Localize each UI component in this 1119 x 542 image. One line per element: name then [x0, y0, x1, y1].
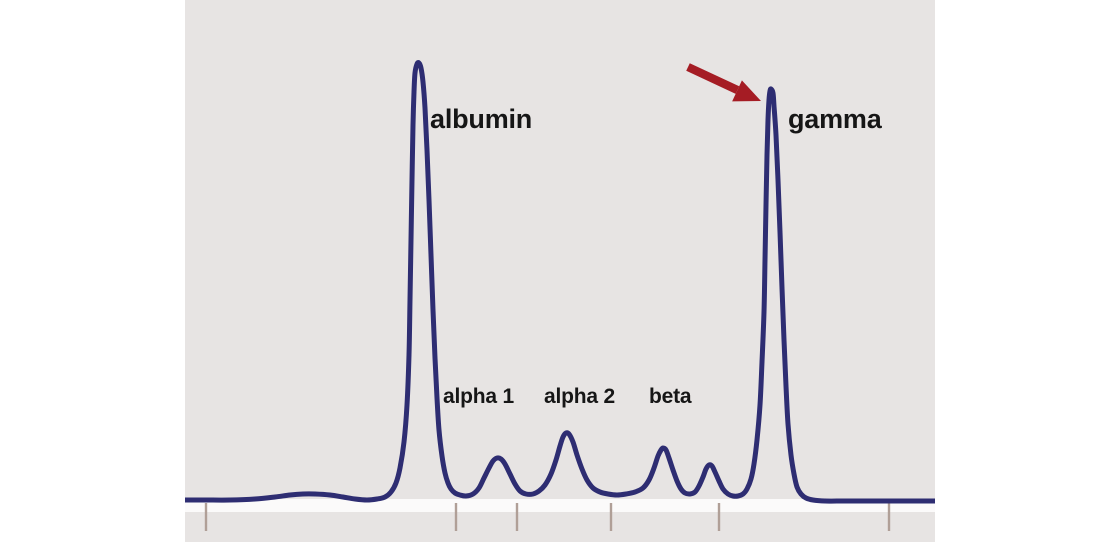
- peak-label-alpha2: alpha 2: [544, 386, 615, 407]
- peak-label-albumin: albumin: [430, 106, 532, 133]
- peak-label-gamma: gamma: [788, 106, 882, 133]
- electrophoresis-plot: [185, 0, 935, 542]
- x-axis-ticks: [206, 503, 889, 531]
- peak-label-alpha1: alpha 1: [443, 386, 514, 407]
- chart-panel: albumin gamma alpha 1 alpha 2 beta: [185, 0, 935, 542]
- gamma-pointer-arrow: [686, 63, 761, 101]
- figure-canvas: albumin gamma alpha 1 alpha 2 beta: [0, 0, 1119, 542]
- peak-label-beta: beta: [649, 386, 691, 407]
